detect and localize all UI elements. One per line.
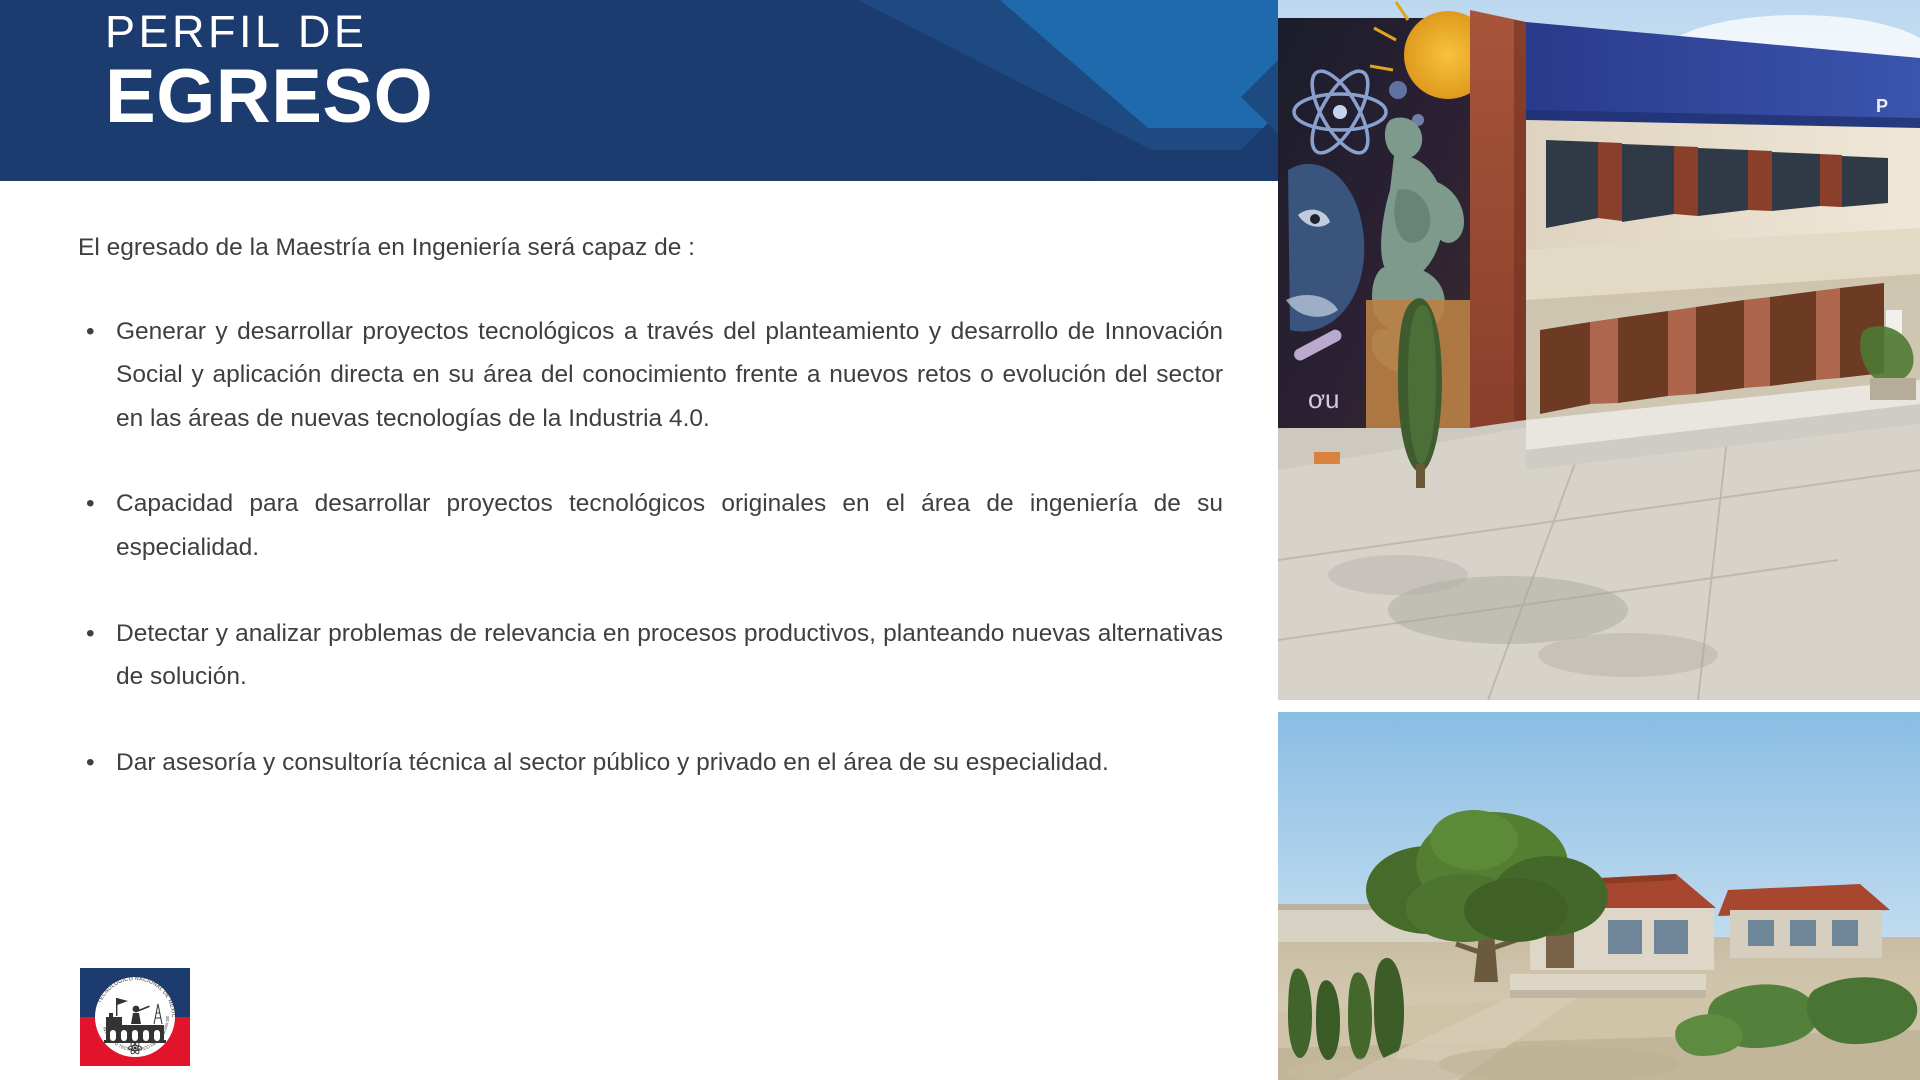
outcomes-bullet-list: • Generar y desarrollar proyectos tecnol… <box>78 310 1228 785</box>
bullet-dot-icon: • <box>86 310 95 354</box>
list-item: • Generar y desarrollar proyectos tecnol… <box>78 310 1223 441</box>
page-title: PERFIL DE EGRESO <box>105 8 433 137</box>
list-item-text: Capacidad para desarrollar proyectos tec… <box>116 490 1223 561</box>
svg-text:ơu: ơu <box>1308 384 1340 414</box>
bullet-dot-icon: • <box>86 612 95 656</box>
svg-text:P: P <box>1876 96 1888 116</box>
slide-root: PERFIL DE EGRESO El egresado de la Maest… <box>0 0 1920 1080</box>
list-item-text: Detectar y analizar problemas de relevan… <box>116 620 1223 691</box>
banner-chevron-decoration <box>808 0 1278 181</box>
list-item-text: Dar asesoría y consultoría técnica al se… <box>116 749 1109 776</box>
list-item: • Capacidad para desarrollar proyectos t… <box>78 482 1223 569</box>
body-area: El egresado de la Maestría en Ingeniería… <box>78 230 1228 784</box>
title-line-secondary: EGRESO <box>105 57 433 137</box>
intro-paragraph: El egresado de la Maestría en Ingeniería… <box>78 230 1228 266</box>
campus-building-mural-photo: ơu <box>1278 0 1920 700</box>
tecnm-logo: TECNOLÓGICO NACIONAL DE MÉXICO INSTITUTO… <box>80 968 190 1066</box>
list-item: • Dar asesoría y consultoría técnica al … <box>78 741 1223 785</box>
content-pane: PERFIL DE EGRESO El egresado de la Maest… <box>0 0 1278 1080</box>
header-banner: PERFIL DE EGRESO <box>0 0 1278 181</box>
list-item-text: Generar y desarrollar proyectos tecnológ… <box>116 318 1223 432</box>
campus-garden-trees-photo <box>1278 712 1920 1080</box>
bullet-dot-icon: • <box>86 741 95 785</box>
title-line-primary: PERFIL DE <box>105 8 433 55</box>
bullet-dot-icon: • <box>86 482 95 526</box>
list-item: • Detectar y analizar problemas de relev… <box>78 612 1223 699</box>
photo-column: ơu <box>1278 0 1920 1080</box>
